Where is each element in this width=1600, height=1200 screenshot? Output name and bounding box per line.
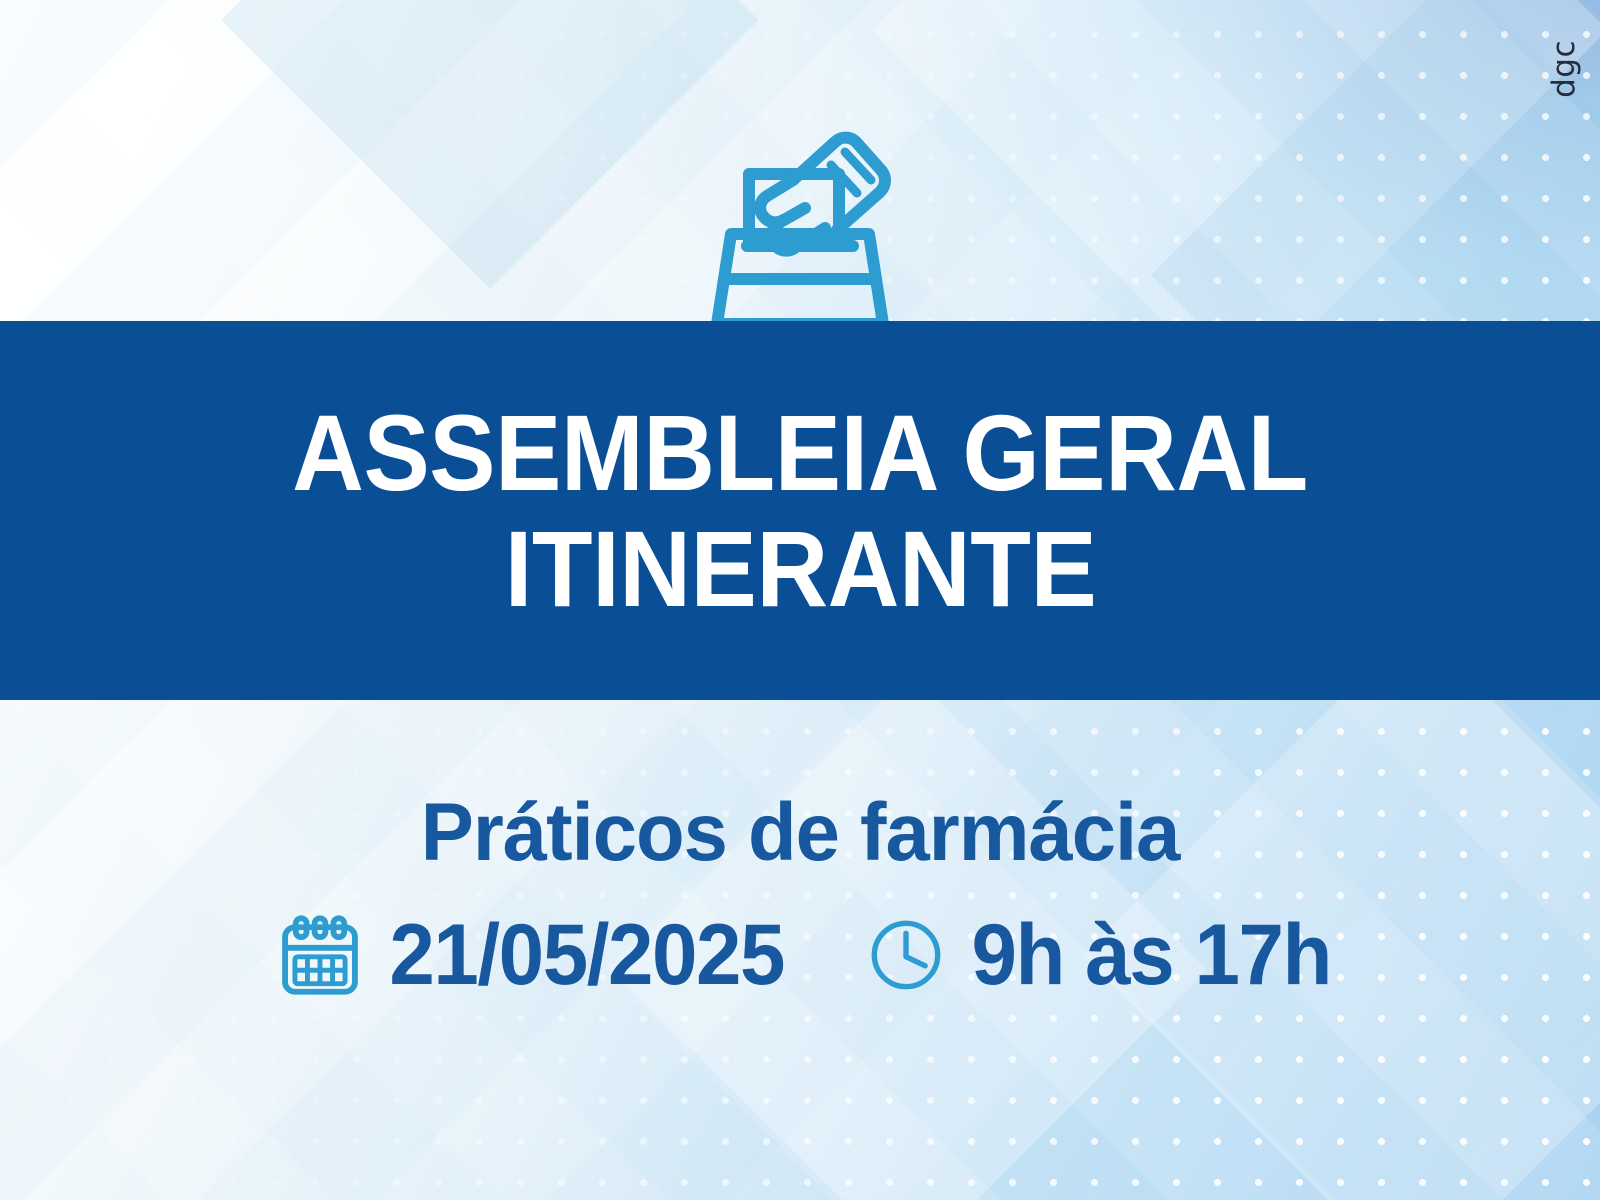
title-line-2: ITINERANTE	[504, 513, 1096, 624]
event-date-item: 21/05/2025	[277, 912, 794, 998]
event-time-value: 9h às 17h	[972, 912, 1332, 998]
lower-content: Práticos de farmácia	[0, 700, 1600, 1200]
dgc-watermark: dgc	[1546, 40, 1582, 98]
poster-canvas: dgc ASSEMBLEIA GERAL ITINERANTE Prátic	[0, 0, 1600, 1200]
calendar-icon	[277, 912, 363, 998]
event-date-value: 21/05/2025	[389, 912, 784, 998]
event-details-row: 21/05/2025 9h às 17h	[0, 912, 1600, 998]
title-line-1: ASSEMBLEIA GERAL	[292, 397, 1308, 508]
subtitle: Práticos de farmácia	[421, 792, 1180, 874]
clock-icon	[866, 915, 946, 995]
ballot-box-hand-icon	[0, 116, 1600, 331]
title-band: ASSEMBLEIA GERAL ITINERANTE	[0, 321, 1600, 700]
event-time-item: 9h às 17h	[866, 912, 1341, 998]
